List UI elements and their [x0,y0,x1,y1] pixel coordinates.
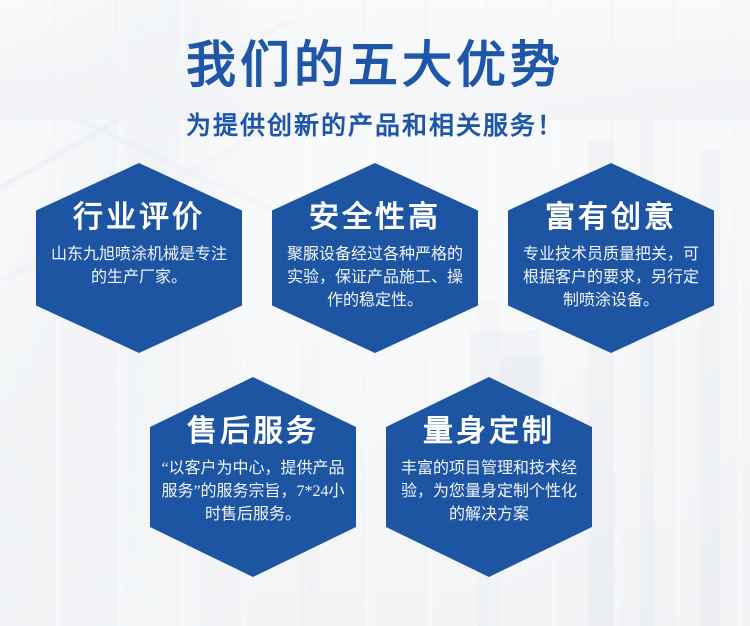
advantage-title: 富有创意 [516,201,706,234]
advantage-title: 量身定制 [398,415,580,448]
hexagon-content: 售后服务 “以客户为中心，提供产品服务”的服务宗旨，7*24小时售后服务。 [150,415,356,527]
advantage-hexagon-industry-reputation[interactable]: 行业评价 山东九旭喷涂机械是专注的生产厂家。 [36,163,242,353]
heading-block: 我们的五大优势 为提供创新的产品和相关服务！ [0,36,750,142]
advantage-body: 丰富的项目管理和技术经验，为您量身定制个性化的解决方案 [398,457,580,527]
advantage-hexagon-creative[interactable]: 富有创意 专业技术员质量把关，可根据客户的要求，另行定制喷涂设备。 [508,163,714,353]
advantage-title: 售后服务 [156,415,350,448]
advantages-banner: 我们的五大优势 为提供创新的产品和相关服务！ 行业评价 山东九旭喷涂机械是专注的… [0,0,750,626]
advantage-body: “以客户为中心，提供产品服务”的服务宗旨，7*24小时售后服务。 [156,457,350,527]
advantage-hexagon-tailor-made[interactable]: 量身定制 丰富的项目管理和技术经验，为您量身定制个性化的解决方案 [386,377,592,577]
hexagon-content: 量身定制 丰富的项目管理和技术经验，为您量身定制个性化的解决方案 [386,415,592,527]
page-subtitle: 为提供创新的产品和相关服务！ [0,106,750,142]
hexagon-content: 富有创意 专业技术员质量把关，可根据客户的要求，另行定制喷涂设备。 [508,201,714,313]
advantage-hexagon-high-safety[interactable]: 安全性高 聚脲设备经过各种严格的实验，保证产品施工、操作的稳定性。 [272,163,478,353]
advantage-title: 安全性高 [280,201,470,234]
hexagon-content: 行业评价 山东九旭喷涂机械是专注的生产厂家。 [36,201,242,289]
advantage-body: 专业技术员质量把关，可根据客户的要求，另行定制喷涂设备。 [516,243,706,313]
hexagon-content: 安全性高 聚脲设备经过各种严格的实验，保证产品施工、操作的稳定性。 [272,201,478,313]
page-title: 我们的五大优势 [0,36,750,94]
advantage-hexagon-after-sales[interactable]: 售后服务 “以客户为中心，提供产品服务”的服务宗旨，7*24小时售后服务。 [150,377,356,577]
advantage-body: 山东九旭喷涂机械是专注的生产厂家。 [48,243,230,289]
advantage-body: 聚脲设备经过各种严格的实验，保证产品施工、操作的稳定性。 [280,243,470,313]
advantage-title: 行业评价 [48,201,230,234]
